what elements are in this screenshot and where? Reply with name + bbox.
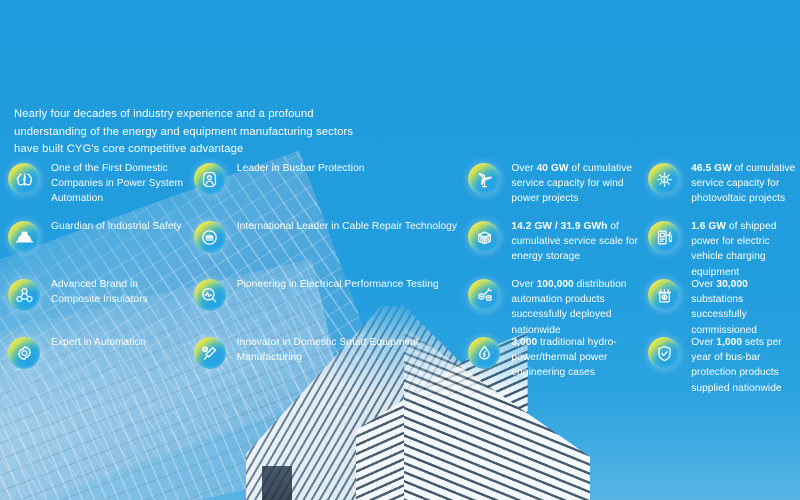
list-item-label: Over 1,000 sets per year of bus-bar prot…: [691, 334, 800, 396]
list-item[interactable]: Pioneering in Electrical Performance Tes…: [194, 276, 461, 334]
composite-insulator-icon: [8, 279, 40, 311]
list-item-label: 3,000 traditional hydro-power/thermal po…: [511, 334, 640, 381]
list-item[interactable]: Leader in Busbar Protection: [194, 160, 461, 218]
photovoltaic-sun-icon: [648, 163, 680, 195]
substation-icon: [648, 279, 680, 311]
list-item[interactable]: 14.2 GW / 31.9 GWh of cumulative service…: [468, 218, 640, 276]
list-item[interactable]: 1.6 GW of shipped power for electric veh…: [648, 218, 800, 276]
column-1: One of the First Domestic Companies in P…: [0, 160, 186, 392]
column-4: 46.5 GW of cumulative service capacity f…: [640, 160, 800, 392]
list-item-label: Guardian of Industrial Safety: [51, 218, 182, 234]
list-item-label: 1.6 GW of shipped power for electric veh…: [691, 218, 800, 280]
list-item[interactable]: Advanced Brand in Composite Insulators: [8, 276, 186, 334]
list-item[interactable]: Over 100,000 distribution automation pro…: [468, 276, 640, 334]
hydro-thermal-power-icon: [468, 337, 500, 369]
list-item[interactable]: Over 30,000 substations successfully com…: [648, 276, 800, 334]
list-item-label: One of the First Domestic Companies in P…: [51, 160, 186, 207]
list-item[interactable]: Expert in Automation: [8, 334, 186, 392]
highlights-grid: One of the First Domestic Companies in P…: [0, 160, 800, 392]
list-item[interactable]: Innovator in Domestic Smart Equipment Ma…: [194, 334, 461, 392]
distribution-automation-icon: [468, 279, 500, 311]
safety-helmet-icon: [8, 221, 40, 253]
list-item[interactable]: Guardian of Industrial Safety: [8, 218, 186, 276]
list-item-label: International Leader in Cable Repair Tec…: [237, 218, 457, 234]
list-item-label: Pioneering in Electrical Performance Tes…: [237, 276, 439, 292]
list-item-label: 46.5 GW of cumulative service capacity f…: [691, 160, 800, 207]
cable-repair-shield-icon: [194, 221, 226, 253]
automation-gear-icon: [8, 337, 40, 369]
list-item[interactable]: International Leader in Cable Repair Tec…: [194, 218, 461, 276]
list-item[interactable]: 46.5 GW of cumulative service capacity f…: [648, 160, 800, 218]
busbar-shield-check-icon: [648, 337, 680, 369]
column-2: Leader in Busbar Protection Internationa…: [186, 160, 461, 392]
list-item-label: Expert in Automation: [51, 334, 146, 350]
list-item[interactable]: 3,000 traditional hydro-power/thermal po…: [468, 334, 640, 392]
list-item[interactable]: One of the First Domestic Companies in P…: [8, 160, 186, 218]
headline-text: Nearly four decades of industry experien…: [14, 106, 364, 159]
list-item-label: Over 100,000 distribution automation pro…: [511, 276, 640, 338]
list-item-label: Over 30,000 substations successfully com…: [691, 276, 800, 338]
busbar-protection-icon: [194, 163, 226, 195]
ev-charging-station-icon: [648, 221, 680, 253]
list-item-label: Advanced Brand in Composite Insulators: [51, 276, 186, 307]
battery-storage-icon: [468, 221, 500, 253]
brain-gear-power-icon: [8, 163, 40, 195]
column-3: Over 40 GW of cumulative service capacit…: [460, 160, 640, 392]
list-item[interactable]: Over 40 GW of cumulative service capacit…: [468, 160, 640, 218]
wind-turbine-icon: [468, 163, 500, 195]
list-item-label: Leader in Busbar Protection: [237, 160, 365, 176]
list-item-label: Over 40 GW of cumulative service capacit…: [511, 160, 640, 207]
list-item-label: 14.2 GW / 31.9 GWh of cumulative service…: [511, 218, 640, 265]
list-item[interactable]: Over 1,000 sets per year of bus-bar prot…: [648, 334, 800, 392]
waveform-magnifier-icon: [194, 279, 226, 311]
list-item-label: Innovator in Domestic Smart Equipment Ma…: [237, 334, 461, 365]
smart-equipment-tools-icon: [194, 337, 226, 369]
